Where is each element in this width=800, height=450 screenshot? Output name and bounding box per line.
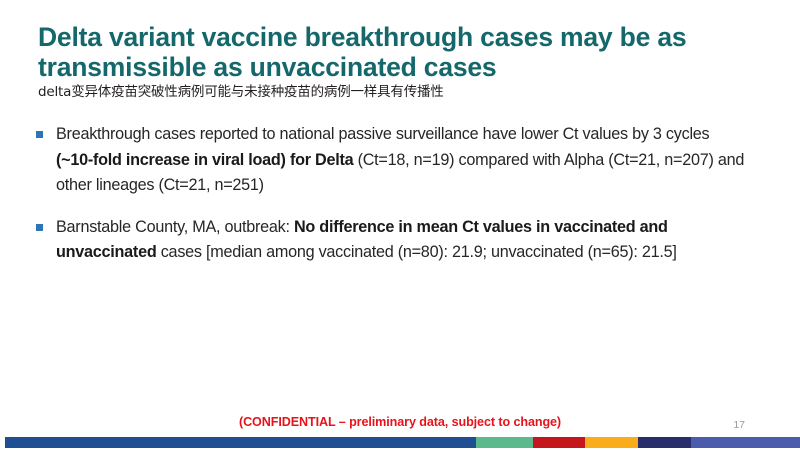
square-bullet-icon xyxy=(36,224,43,231)
presentation-slide: Delta variant vaccine breakthrough cases… xyxy=(0,0,800,450)
navy-segment xyxy=(5,437,476,448)
bottom-color-bar xyxy=(5,437,800,448)
bullet-text-1: Breakthrough cases reported to national … xyxy=(56,122,750,199)
periwinkle-segment xyxy=(691,437,800,448)
dark-navy-segment xyxy=(638,437,691,448)
bullet-item-2: Barnstable County, MA, outbreak: No diff… xyxy=(36,215,750,266)
confidential-footer-note: (CONFIDENTIAL – preliminary data, subjec… xyxy=(0,415,800,429)
page-title: Delta variant vaccine breakthrough cases… xyxy=(38,22,750,82)
square-bullet-icon xyxy=(36,131,43,138)
bullet-text-2: Barnstable County, MA, outbreak: No diff… xyxy=(56,215,750,266)
red-segment xyxy=(533,437,586,448)
body-content: Breakthrough cases reported to national … xyxy=(36,122,750,282)
slide-subtitle-chinese: delta变异体疫苗突破性病例可能与未接种疫苗的病例一样具有传播性 xyxy=(38,84,750,101)
green-segment xyxy=(476,437,533,448)
title-block: Delta variant vaccine breakthrough cases… xyxy=(38,22,750,101)
bullet-item-1: Breakthrough cases reported to national … xyxy=(36,122,750,199)
page-number: 17 xyxy=(733,419,745,431)
orange-segment xyxy=(585,437,638,448)
